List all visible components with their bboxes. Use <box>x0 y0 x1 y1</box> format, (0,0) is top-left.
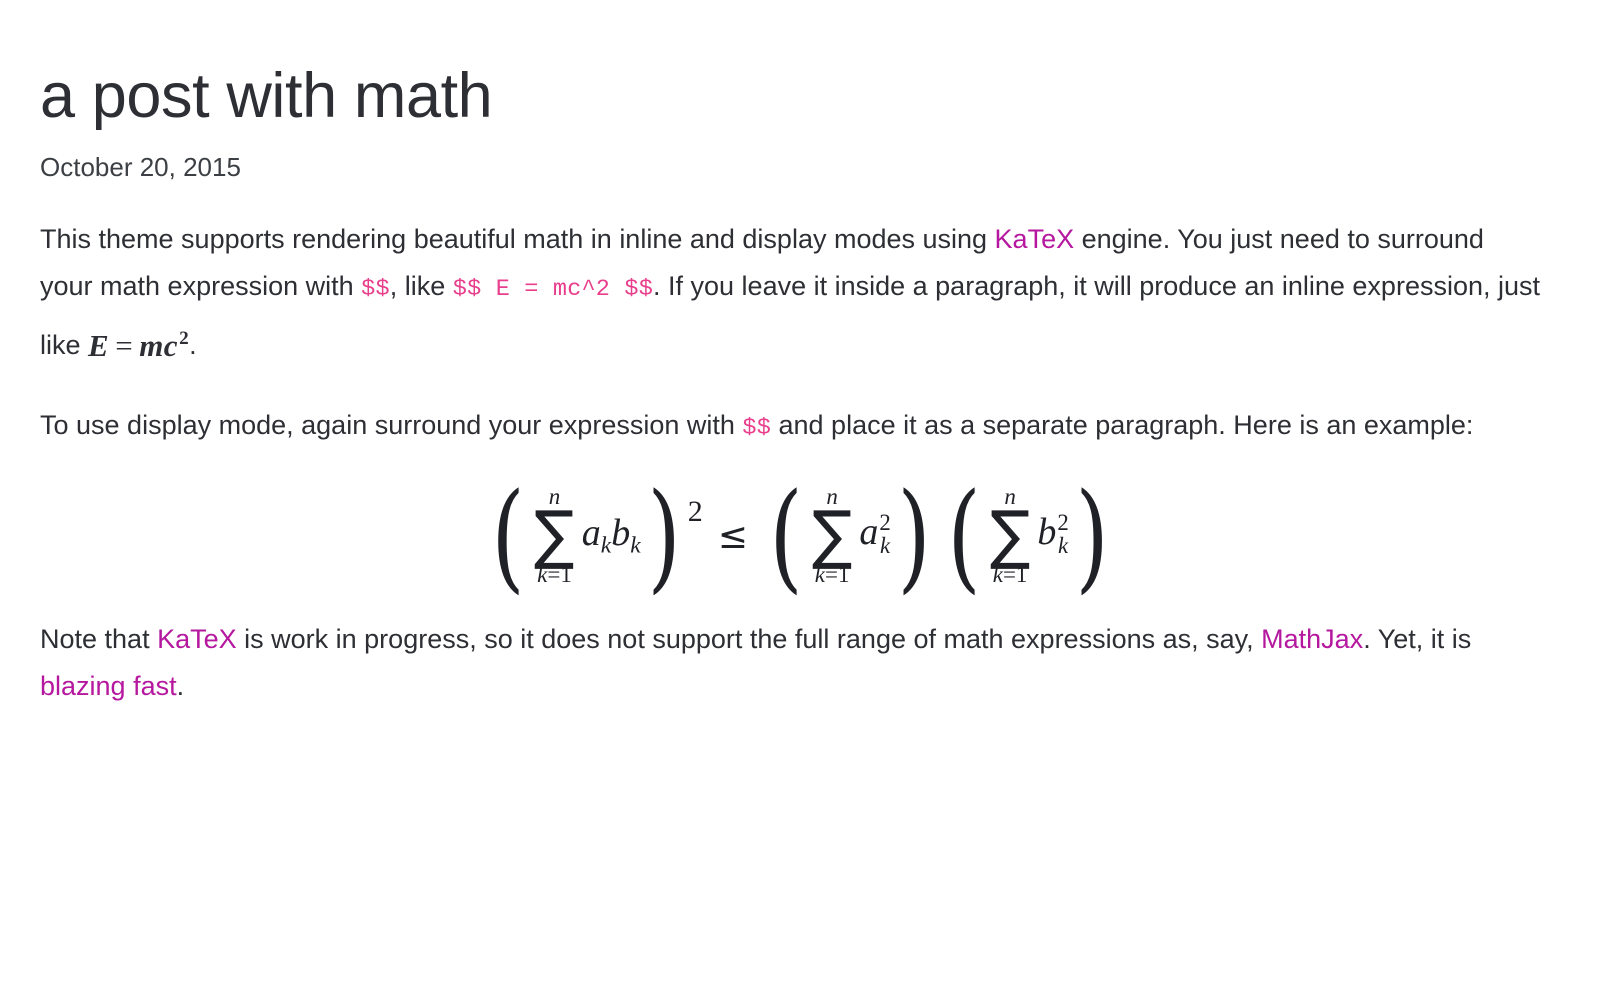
superscript-two: 2 <box>879 511 890 534</box>
subscript-k: k <box>879 534 890 557</box>
inline-math-lhs: E <box>88 328 109 363</box>
paragraph-note: Note that KaTeX is work in progress, so … <box>40 616 1540 710</box>
paragraph-text: . Yet, it is <box>1363 624 1471 654</box>
symbol-a: a <box>859 511 878 553</box>
link-blazing-fast[interactable]: blazing fast <box>40 671 177 701</box>
paragraph-display-mode: To use display mode, again surround your… <box>40 402 1540 452</box>
subscript-k: k <box>630 532 640 558</box>
code-dollar-delimiters: $$ <box>742 415 771 442</box>
right-paren: ) <box>897 490 930 582</box>
paragraph-text: This theme supports rendering beautiful … <box>40 224 995 254</box>
math-term-bk-squared: b2k <box>1037 512 1068 559</box>
left-paren: ( <box>769 490 802 582</box>
math-term-akbk: akbk <box>582 514 641 558</box>
post-body: This theme supports rendering beautiful … <box>40 216 1560 710</box>
inline-math-emc2: E=mc2 <box>88 328 189 363</box>
math-group-rhs-a: ( n ∑ k=1 a2k ) <box>763 485 937 586</box>
summation-operator: n ∑ k=1 <box>533 485 575 586</box>
right-paren: ) <box>1075 490 1108 582</box>
left-paren: ( <box>947 490 980 582</box>
math-group-rhs-b: ( n ∑ k=1 b2k ) <box>941 485 1115 586</box>
right-paren: ) <box>647 490 680 582</box>
code-emc2-example: $$ E = mc^2 $$ <box>453 276 653 303</box>
paragraph-intro: This theme supports rendering beautiful … <box>40 216 1540 369</box>
sub-superscript-stack: 2k <box>1057 511 1068 558</box>
sigma-icon: ∑ <box>990 509 1030 563</box>
symbol-b: b <box>611 512 630 554</box>
summation-operator: n ∑ k=1 <box>989 485 1031 586</box>
sigma-icon: ∑ <box>534 509 574 563</box>
link-mathjax[interactable]: MathJax <box>1261 624 1363 654</box>
superscript-two: 2 <box>1057 511 1068 534</box>
paragraph-text: and place it as a separate paragraph. He… <box>771 410 1473 440</box>
link-katex[interactable]: KaTeX <box>995 224 1075 254</box>
paragraph-text: To use display mode, again surround your… <box>40 410 742 440</box>
relation-leq-icon: ≤ <box>718 519 748 555</box>
paragraph-text: is work in progress, so it does not supp… <box>237 624 1262 654</box>
left-paren: ( <box>492 490 525 582</box>
post-page: a post with math October 20, 2015 This t… <box>0 0 1600 1000</box>
cauchy-schwarz-equation: ( n ∑ k=1 akbk ) 2 ≤ ( n ∑ <box>485 485 1115 586</box>
subscript-k: k <box>1057 534 1068 557</box>
subscript-k: k <box>601 532 611 558</box>
symbol-a: a <box>582 512 601 554</box>
paragraph-text: Note that <box>40 624 157 654</box>
outer-exponent-two: 2 <box>688 497 703 527</box>
paragraph-text: , like <box>390 271 453 301</box>
code-dollar-delimiters: $$ <box>361 276 390 303</box>
summation-operator: n ∑ k=1 <box>811 485 853 586</box>
math-group-lhs: ( n ∑ k=1 akbk ) 2 <box>485 485 702 586</box>
sub-superscript-stack: 2k <box>879 511 890 558</box>
math-term-ak-squared: a2k <box>859 512 890 559</box>
sigma-icon: ∑ <box>812 509 852 563</box>
inline-math-rhs-base: mc <box>139 328 178 363</box>
post-date: October 20, 2015 <box>40 152 1560 183</box>
link-katex[interactable]: KaTeX <box>157 624 237 654</box>
paragraph-text: . <box>189 330 197 360</box>
page-title: a post with math <box>40 0 1560 130</box>
paragraph-text: . <box>177 671 185 701</box>
inline-math-relation: = <box>115 328 133 363</box>
display-math-block: ( n ∑ k=1 akbk ) 2 ≤ ( n ∑ <box>40 485 1560 586</box>
inline-math-rhs-exponent: 2 <box>179 328 189 349</box>
symbol-b: b <box>1037 511 1056 553</box>
